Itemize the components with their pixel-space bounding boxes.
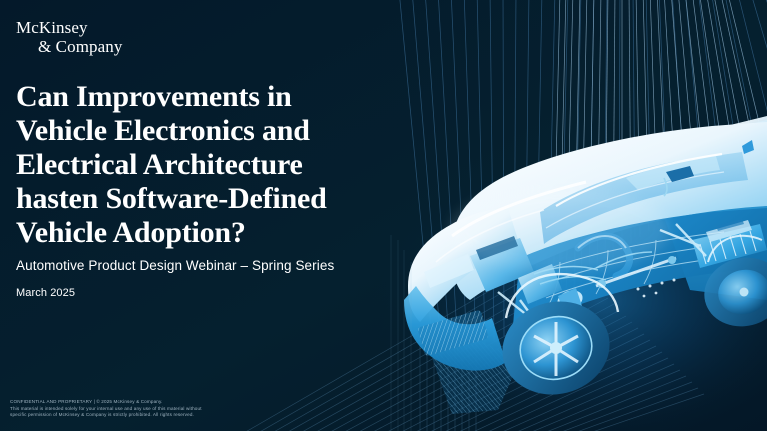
title-line-2: Vehicle Electronics and xyxy=(16,114,436,148)
slide-date: March 2025 xyxy=(16,287,75,299)
footer-line-1: CONFIDENTIAL AND PROPRIETARY | © 2025 Mc… xyxy=(10,399,340,406)
vertical-streaks xyxy=(420,330,476,431)
electric-vehicle-xray-cutaway xyxy=(404,116,767,414)
footer-line-2: This material is intended solely for you… xyxy=(10,406,340,413)
logo-line-2: & Company xyxy=(16,37,122,56)
powertrain-components xyxy=(470,224,706,330)
front-wheel xyxy=(492,290,619,405)
radiating-line-fan-upper xyxy=(399,0,767,360)
title-line-1: Can Improvements in xyxy=(16,80,436,114)
presentation-title-slide: McKinsey & Company Can Improvements in V… xyxy=(0,0,767,431)
slide-subtitle: Automotive Product Design Webinar – Spri… xyxy=(16,258,334,273)
mckinsey-logo: McKinsey & Company xyxy=(16,18,122,56)
rear-wheel xyxy=(697,249,767,334)
logo-line-1: McKinsey xyxy=(16,18,88,37)
slide-title: Can Improvements in Vehicle Electronics … xyxy=(16,80,436,250)
title-line-3: Electrical Architecture xyxy=(16,148,436,182)
title-line-5: Vehicle Adoption? xyxy=(16,216,436,250)
title-line-4: hasten Software-Defined xyxy=(16,182,436,216)
confidentiality-footer: CONFIDENTIAL AND PROPRIETARY | © 2025 Mc… xyxy=(10,399,340,419)
battery-pack xyxy=(692,219,767,268)
footer-line-3: specific permission of McKinsey & Compan… xyxy=(10,412,340,419)
